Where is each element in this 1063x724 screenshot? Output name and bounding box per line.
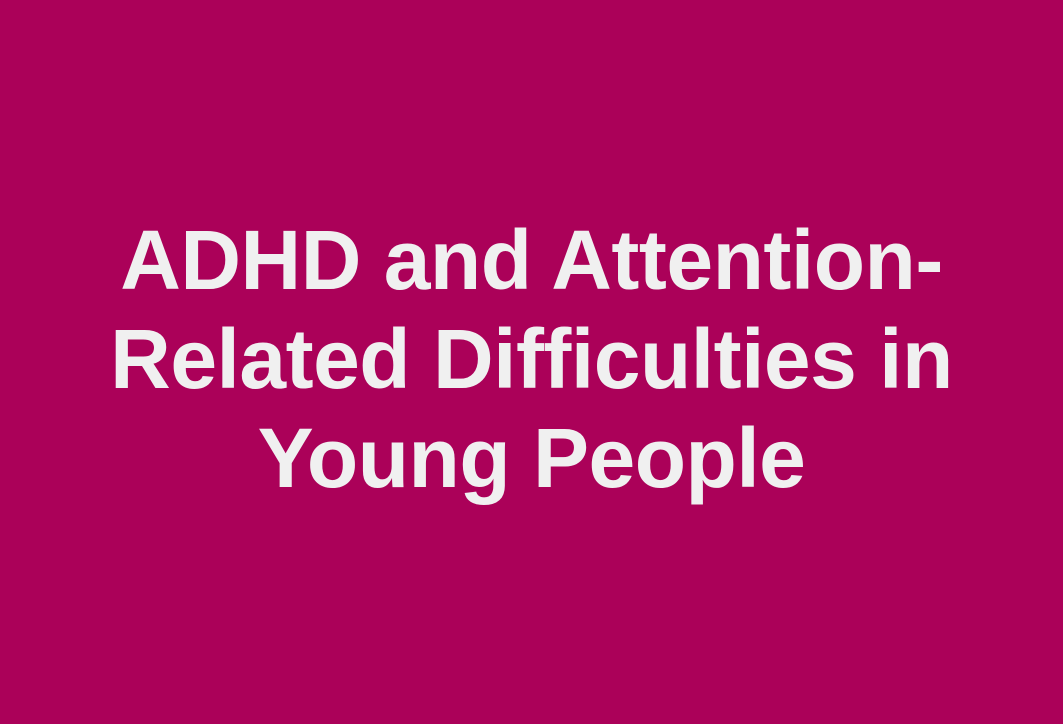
- title-line-1: ADHD and Attention-: [92, 211, 972, 310]
- title-line-3: Young People: [92, 409, 972, 508]
- page-title: ADHD and Attention- Related Difficulties…: [92, 211, 972, 508]
- title-line-2: Related Difficulties in: [92, 310, 972, 409]
- title-slide: ADHD and Attention- Related Difficulties…: [0, 0, 1063, 724]
